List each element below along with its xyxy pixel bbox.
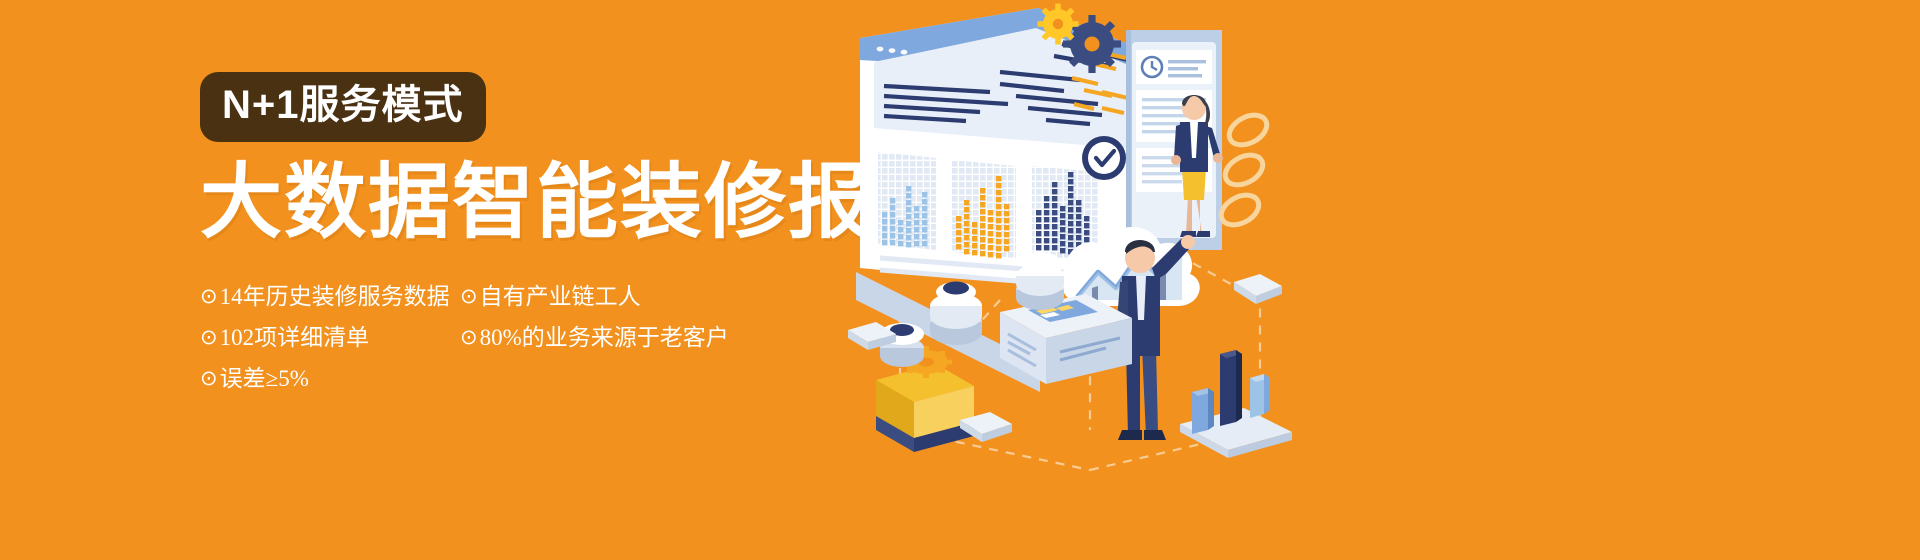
list-item-label: 80%的业务来源于老客户 — [480, 326, 729, 349]
ring-arcs-stack — [1216, 109, 1272, 231]
check-badge-icon — [1082, 136, 1126, 180]
list-item: ⊙ 14年历史装修服务数据 — [200, 276, 460, 317]
list-item-label: 102项详细清单 — [220, 326, 370, 349]
circled-dot-icon: ⊙ — [460, 286, 478, 307]
circled-dot-icon: ⊙ — [200, 286, 218, 307]
list-item-spacer — [460, 358, 800, 399]
feature-bullet-list: ⊙ 14年历史装修服务数据 ⊙ 自有产业链工人 ⊙ 102项详细清单 ⊙ 80%… — [200, 276, 820, 399]
circled-dot-icon: ⊙ — [200, 368, 218, 389]
pixel-bar-chart-orange — [952, 160, 1016, 258]
list-item-label: 误差≥5% — [220, 367, 309, 390]
list-item: ⊙ 80%的业务来源于老客户 — [460, 317, 800, 358]
bar-column-group — [1180, 350, 1292, 458]
pixel-bar-chart-light-blue — [878, 152, 936, 250]
service-model-badge: N+1服务模式 — [200, 72, 486, 142]
gear-yellow-small — [1038, 4, 1079, 45]
promo-banner: N+1服务模式 大数据智能装修报价 ⊙ 14年历史装修服务数据 ⊙ 自有产业链工… — [0, 0, 1920, 560]
list-item-label: 14年历史装修服务数据 — [220, 285, 450, 308]
list-item: ⊙ 误差≥5% — [200, 358, 460, 399]
list-item: ⊙ 102项详细清单 — [200, 317, 460, 358]
list-item-label: 自有产业链工人 — [480, 285, 641, 308]
isometric-bigdata-illustration — [840, 0, 1400, 560]
circled-dot-icon: ⊙ — [460, 327, 478, 348]
page-title: 大数据智能装修报价 — [200, 160, 940, 246]
circled-dot-icon: ⊙ — [200, 327, 218, 348]
list-item: ⊙ 自有产业链工人 — [460, 276, 800, 317]
banner-text-block: N+1服务模式 大数据智能装修报价 ⊙ 14年历史装修服务数据 ⊙ 自有产业链工… — [200, 72, 940, 399]
